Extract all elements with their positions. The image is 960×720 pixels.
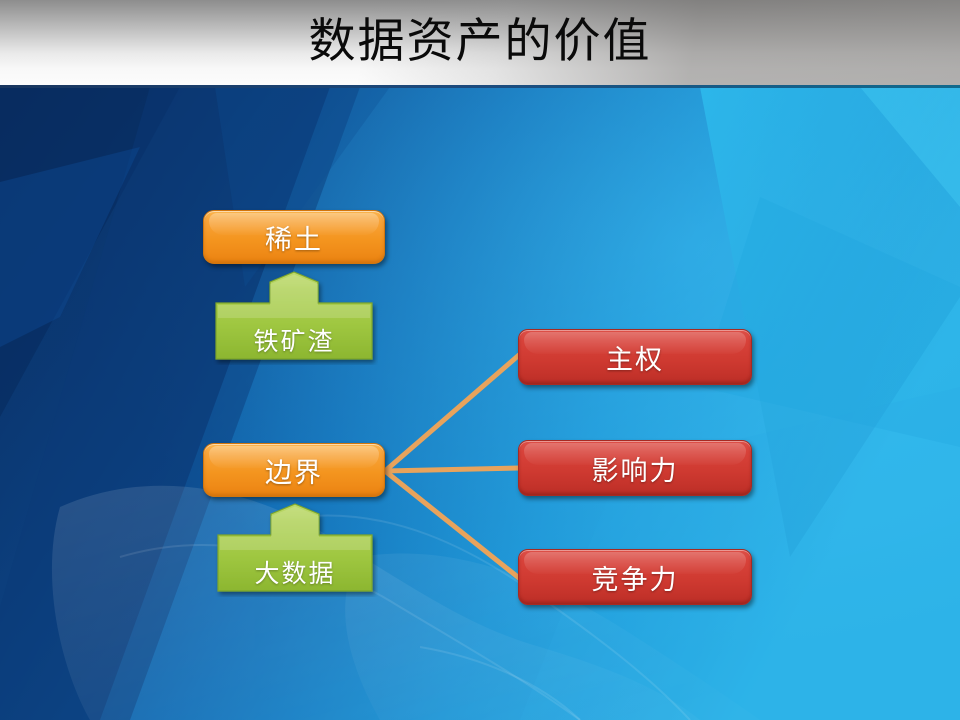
node-big-data[interactable]: 大数据 <box>212 502 378 597</box>
node-influence-label: 影响力 <box>592 449 679 488</box>
node-rare-earth[interactable]: 稀土 <box>203 210 385 264</box>
diagram-area: 稀土 铁矿渣 <box>0 0 960 720</box>
connector-boundary-to-sovereignty <box>385 355 519 471</box>
connector-boundary-to-competitiveness <box>385 471 519 578</box>
node-iron-slag[interactable]: 铁矿渣 <box>210 270 378 365</box>
node-boundary-label: 边界 <box>265 451 323 490</box>
connector-boundary-to-influence <box>385 468 519 471</box>
node-boundary[interactable]: 边界 <box>203 443 385 497</box>
node-sovereignty-label: 主权 <box>606 338 664 377</box>
connector-lines <box>0 0 960 720</box>
node-rare-earth-label: 稀土 <box>265 218 323 257</box>
node-sovereignty[interactable]: 主权 <box>518 329 752 385</box>
node-big-data-label: 大数据 <box>212 554 378 590</box>
node-influence[interactable]: 影响力 <box>518 440 752 496</box>
node-competitiveness[interactable]: 竞争力 <box>518 549 752 605</box>
slide-canvas: 数据资产的价值 稀土 <box>0 0 960 720</box>
node-competitiveness-label: 竞争力 <box>592 558 679 597</box>
node-iron-slag-label: 铁矿渣 <box>210 322 378 358</box>
